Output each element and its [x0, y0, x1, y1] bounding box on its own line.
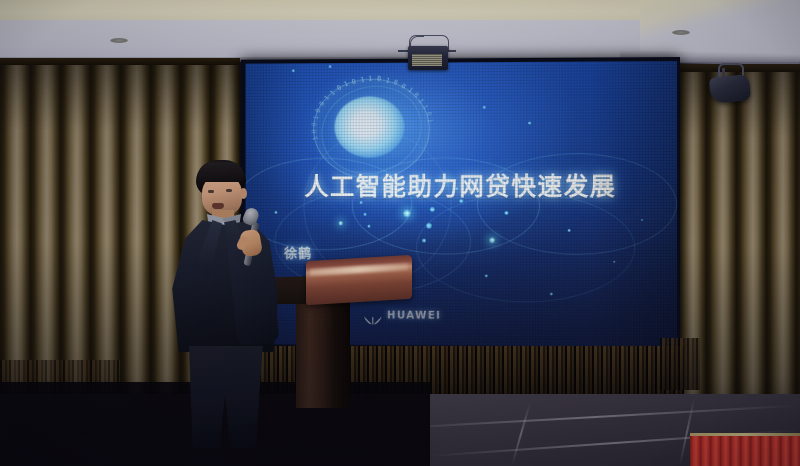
- ceiling-speaker-fixture: [708, 62, 754, 106]
- presenter-mouth: [212, 203, 224, 209]
- stage-skirt: [690, 436, 800, 466]
- spotlight-lens-icon: [412, 54, 442, 66]
- recessed-ceiling-light-icon: [672, 30, 690, 35]
- slat-shading: [660, 338, 700, 390]
- presentation-photo-scene: 10010011010110100101101: [0, 0, 800, 466]
- presenter-ear: [240, 188, 247, 199]
- presenter-trousers: [180, 346, 270, 448]
- floor-panel-seam: [511, 403, 531, 465]
- lectern-column-shadow: [334, 298, 350, 408]
- lectern-top-surface: [306, 255, 412, 305]
- floor-panel-seam: [390, 405, 799, 429]
- stage-spotlight-fixture: [404, 34, 450, 70]
- presenter: [158, 158, 290, 448]
- curtain-rod-left: [0, 58, 240, 65]
- presenter-eye: [208, 190, 214, 193]
- lectern-column: [296, 300, 334, 408]
- recessed-ceiling-light-icon: [110, 38, 128, 43]
- presenter-eye: [226, 189, 232, 192]
- presenter-hair-front: [198, 162, 244, 182]
- wood-slat-balustrade: [660, 338, 700, 390]
- speaker-enclosure: [709, 74, 751, 104]
